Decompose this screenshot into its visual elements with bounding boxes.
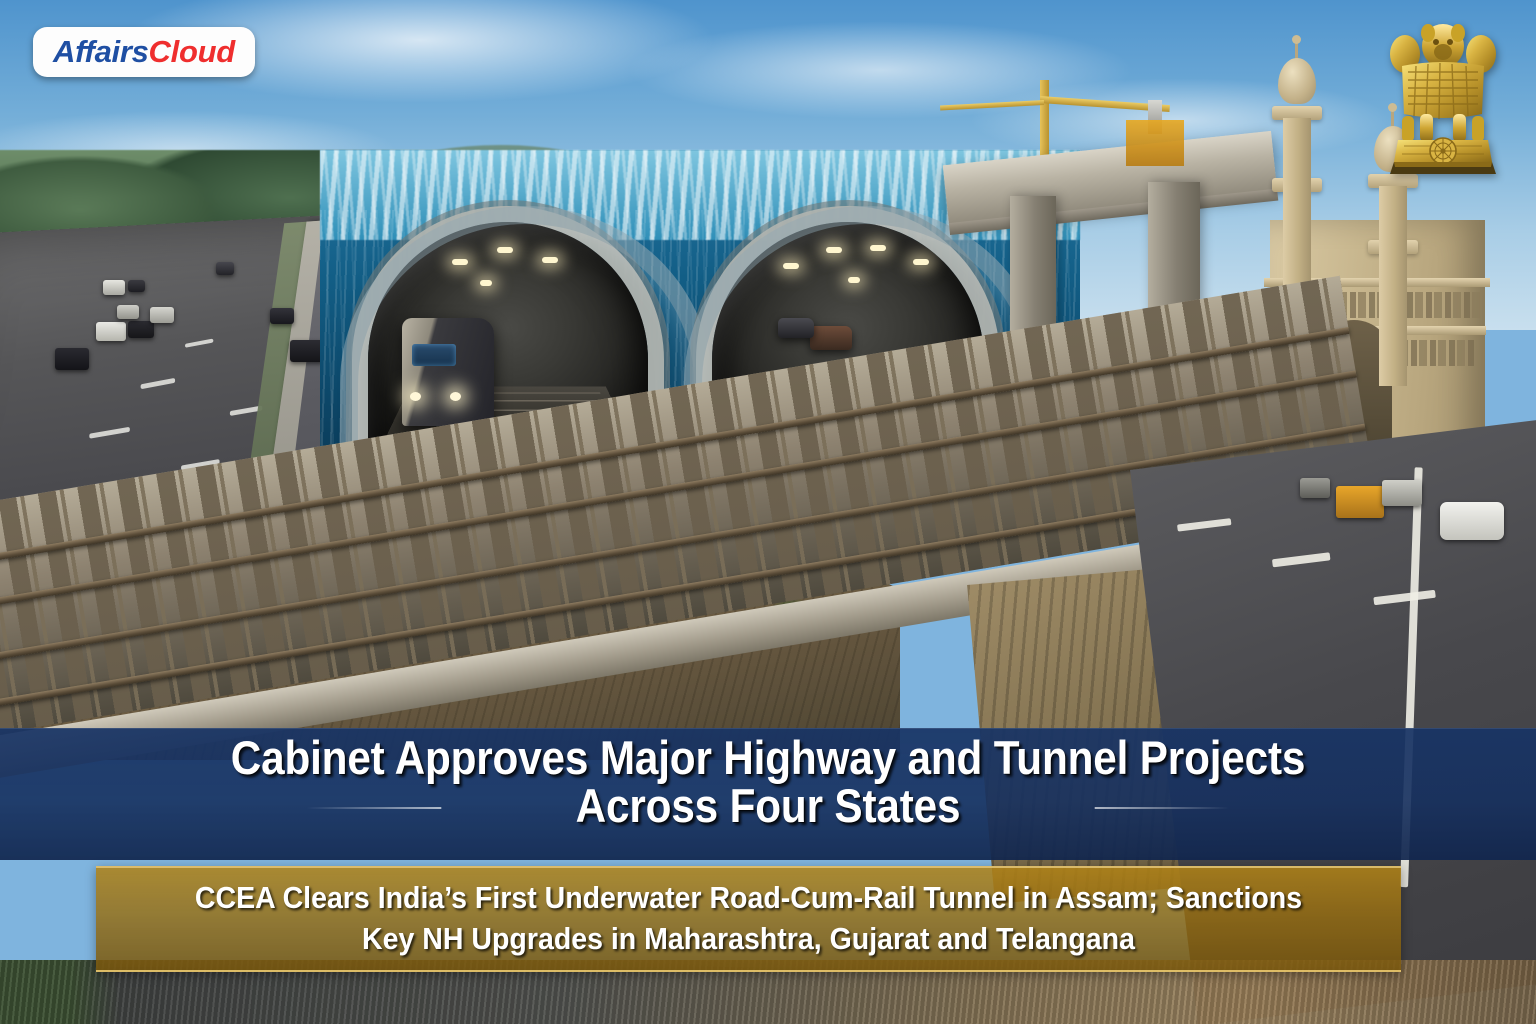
headline-line-2: Across Four States bbox=[576, 779, 961, 832]
road-lane-marking bbox=[1272, 552, 1331, 567]
vehicle bbox=[1440, 502, 1504, 540]
subheadline-line-2: Key NH Upgrades in Maharashtra, Gujarat … bbox=[148, 919, 1349, 960]
page-title: Cabinet Approves Major Highway and Tunne… bbox=[77, 734, 1459, 831]
vehicle bbox=[150, 307, 174, 323]
headline-line-2-wrap: Across Four States bbox=[77, 782, 1459, 830]
headline-banner: Cabinet Approves Major Highway and Tunne… bbox=[0, 728, 1536, 860]
bridge-scaffolding bbox=[1126, 120, 1184, 166]
vehicle bbox=[55, 348, 89, 370]
logo-text-affairs: Affairs bbox=[53, 34, 149, 69]
indian-national-emblem-icon bbox=[1378, 18, 1508, 178]
decorative-rule-left bbox=[306, 807, 441, 809]
infographic-banner: AffairsCloud bbox=[0, 0, 1536, 1024]
metro-train bbox=[402, 318, 494, 426]
vehicle bbox=[290, 340, 324, 362]
page-subtitle: CCEA Clears India’s First Underwater Roa… bbox=[148, 878, 1349, 960]
vehicle bbox=[96, 322, 126, 341]
train-headlight bbox=[450, 392, 461, 401]
minaret-shaft bbox=[1379, 186, 1407, 386]
headline-line-1: Cabinet Approves Major Highway and Tunne… bbox=[231, 731, 1306, 784]
decorative-rule-right bbox=[1095, 807, 1230, 809]
road-lane-marking bbox=[1177, 518, 1231, 532]
train-windscreen bbox=[412, 344, 456, 366]
vehicle bbox=[117, 305, 139, 319]
vehicle bbox=[216, 262, 234, 275]
vehicle bbox=[128, 321, 154, 338]
subheadline-banner: CCEA Clears India’s First Underwater Roa… bbox=[96, 866, 1401, 972]
subheadline-line-1: CCEA Clears India’s First Underwater Roa… bbox=[148, 878, 1349, 919]
vehicle bbox=[103, 280, 125, 295]
minaret-dome bbox=[1278, 58, 1316, 104]
car-in-tunnel bbox=[778, 318, 814, 338]
vehicle bbox=[270, 308, 294, 324]
vehicle bbox=[1336, 486, 1384, 518]
vehicle bbox=[128, 280, 145, 292]
car-in-tunnel bbox=[810, 326, 852, 350]
train-headlight bbox=[410, 392, 421, 401]
vehicle bbox=[1382, 480, 1422, 506]
vehicle bbox=[1300, 478, 1330, 498]
affairscloud-logo[interactable]: AffairsCloud bbox=[33, 27, 255, 77]
logo-text-cloud: Cloud bbox=[149, 34, 235, 69]
road-lane-marking bbox=[1373, 590, 1436, 605]
